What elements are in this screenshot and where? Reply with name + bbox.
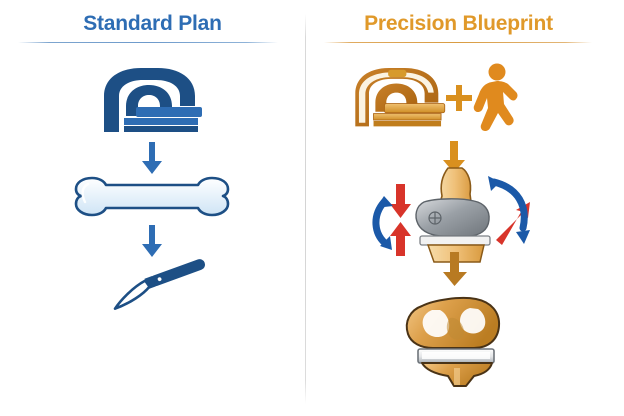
knee-kinematics-icon: [368, 166, 548, 262]
comparison-diagram: Standard Plan: [0, 0, 624, 416]
bone-icon: [72, 172, 232, 220]
walking-person-icon: [472, 63, 518, 133]
scalpel-icon: [96, 257, 216, 305]
ct-scanner-icon: [348, 64, 452, 134]
arrow-down-icon: [137, 225, 167, 258]
knee-implant-icon: [398, 288, 508, 388]
panel-precision-blueprint: Precision Blueprint: [306, 0, 611, 416]
plus-icon: [446, 85, 472, 111]
title-underline-standard: [18, 42, 278, 43]
arrow-down-icon: [438, 252, 470, 287]
arrow-down-icon: [137, 142, 167, 175]
title-underline-precision: [324, 42, 592, 43]
panel-title-precision: Precision Blueprint: [306, 12, 611, 36]
panel-standard-plan: Standard Plan: [0, 0, 305, 416]
panel-title-standard: Standard Plan: [0, 12, 305, 36]
ct-scanner-icon: [96, 66, 210, 138]
